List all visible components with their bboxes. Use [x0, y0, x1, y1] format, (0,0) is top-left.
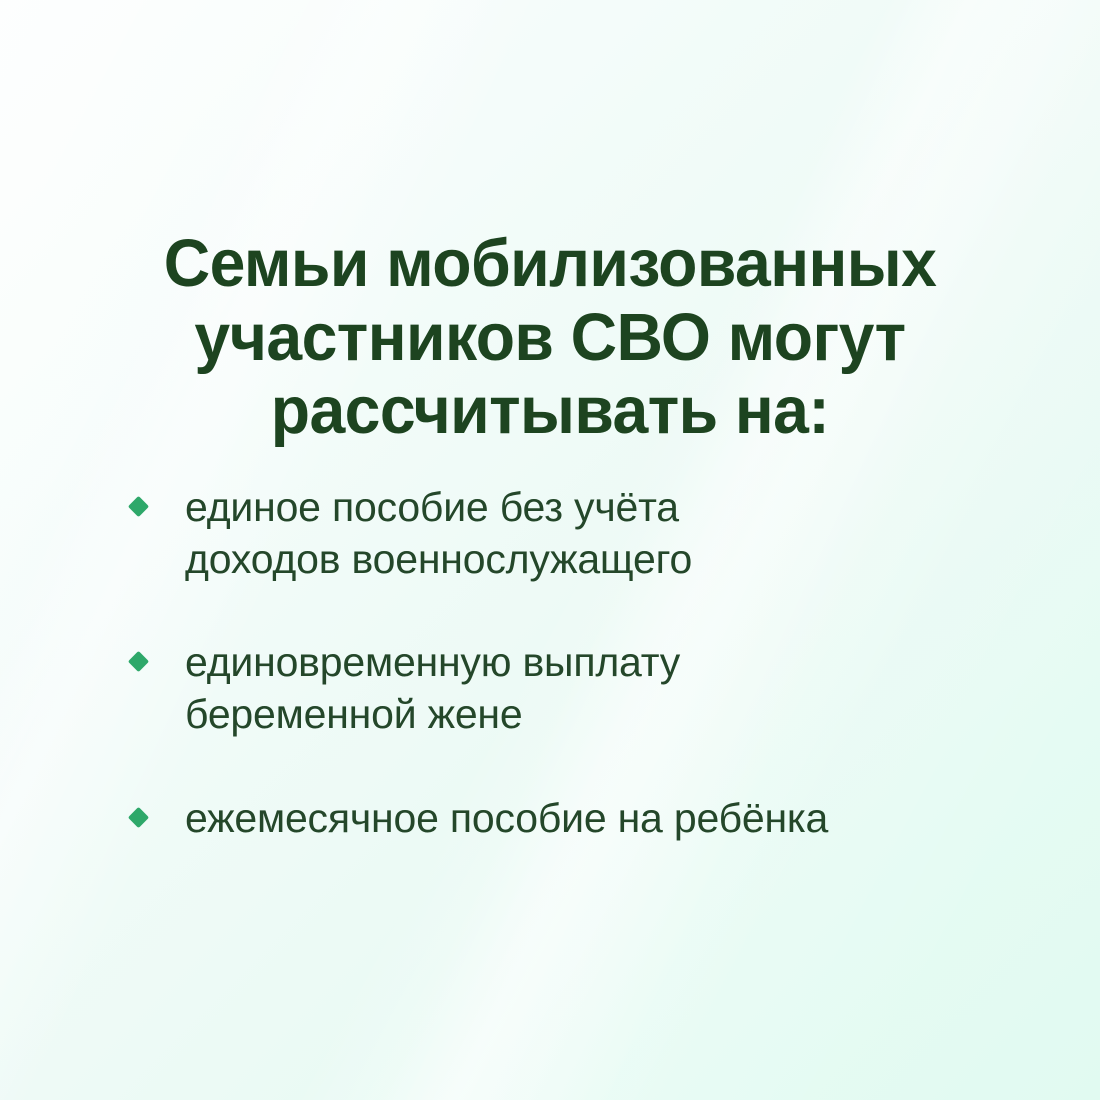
list-item-line: доходов военнослужащего: [185, 536, 692, 582]
list-item-label: единое пособие без учёта доходов военнос…: [185, 482, 692, 585]
diamond-bullet-icon: [128, 496, 150, 518]
list-item: единовременную выплату беременной жене: [128, 637, 1058, 740]
diamond-bullet-icon: [128, 807, 150, 829]
list-item: единое пособие без учёта доходов военнос…: [128, 482, 1058, 585]
page-title: Семьи мобилизованных участников СВО могу…: [99, 227, 1001, 448]
list-item-line: единовременную выплату: [185, 639, 680, 685]
benefits-list: единое пособие без учёта доходов военнос…: [128, 482, 1058, 844]
list-item-line: беременной жене: [185, 691, 522, 737]
page-title-line-3: рассчитывать на:: [99, 374, 1001, 448]
list-item-line: единое пособие без учёта: [185, 484, 679, 530]
diamond-bullet-icon: [128, 651, 150, 673]
list-item: ежемесячное пособие на ребёнка: [128, 793, 1058, 845]
poster-canvas: Семьи мобилизованных участников СВО могу…: [0, 0, 1100, 1100]
list-item-label: ежемесячное пособие на ребёнка: [185, 793, 828, 845]
list-item-label: единовременную выплату беременной жене: [185, 637, 680, 740]
page-title-line-1: Семьи мобилизованных: [99, 227, 1001, 301]
page-title-line-2: участников СВО могут: [99, 301, 1001, 375]
